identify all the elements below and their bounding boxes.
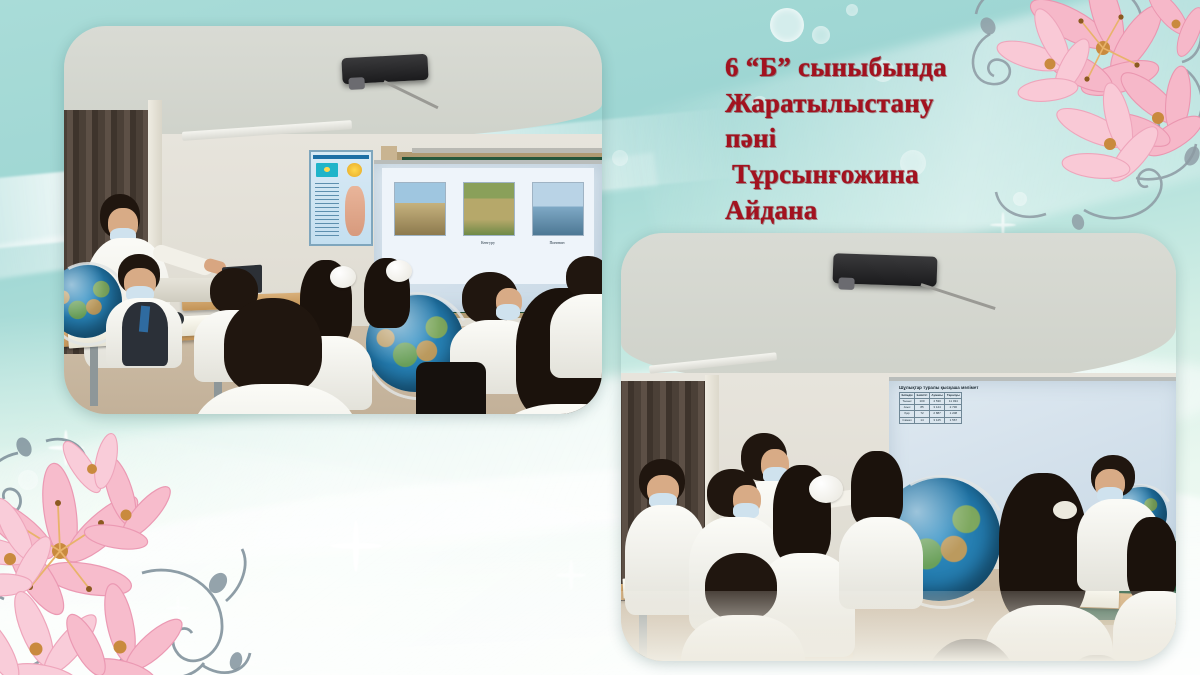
animal-slide: Кенгуру Пингвин [382,168,594,284]
table-row: Самал 14 3 125 1 567 [900,417,962,423]
hair-bow [386,260,412,282]
hair-bow [330,266,356,288]
animal-image-penguin [532,182,584,236]
bokeh-dot [846,4,858,16]
title-line-5: Айдана [725,193,1055,229]
animal-image-kangaroo [463,182,515,236]
screen-roller [412,148,602,153]
kazakhstan-poster [309,150,373,246]
sparkle-icon [330,520,382,572]
bokeh-dot [770,8,804,42]
table-cell: Самал [900,417,915,423]
title-line-3: пәні [725,121,1055,157]
sparkle-icon [166,596,190,620]
emblem-icon [347,163,362,177]
bokeh-dot [18,470,38,490]
kazakhstan-flag-icon [316,163,338,177]
table-cell: 14 [915,417,930,423]
sparkle-icon [556,560,586,590]
title-line-1: 6 “Б” сыныбында [725,50,1055,86]
background-ribbon-6 [0,417,712,675]
floral-decoration-bottom-left [0,433,252,675]
slide-title: 6 “Б” сыныбында Жаратылыстану пәні Тұрсы… [725,50,1055,228]
title-line-2: Жаратылыстану [725,86,1055,122]
animal-label-penguin: Пингвин [532,240,582,245]
data-table: Ҩсімдік Биіктігі Аумағы Таралуы Тыныс 10… [899,392,962,424]
projector-icon [833,253,938,287]
hair-tie [1053,501,1077,519]
bokeh-dot [612,150,628,166]
projected-data-table: Шұлықтар туралы қысқаша мәлімет Ҩсімдік … [899,385,1099,424]
classroom-photo-right: Шұлықтар туралы қысқаша мәлімет Ҩсімдік … [621,233,1176,661]
table-cell: 1 567 [945,417,962,423]
presentation-slide: Кенгуру Пингвин [0,0,1200,675]
table-cell: 3 125 [929,417,944,423]
animal-image-giraffe [394,182,446,236]
animal-label-kangaroo: Кенгуру [463,240,513,245]
sparkle-icon [48,430,84,466]
title-line-4: Тұрсынғожина [725,157,1055,193]
table-title: Шұлықтар туралы қысқаша мәлімет [899,385,1099,390]
hair-bow [809,475,843,503]
bokeh-dot [812,26,830,44]
classroom-photo-left: Кенгуру Пингвин [64,26,602,414]
